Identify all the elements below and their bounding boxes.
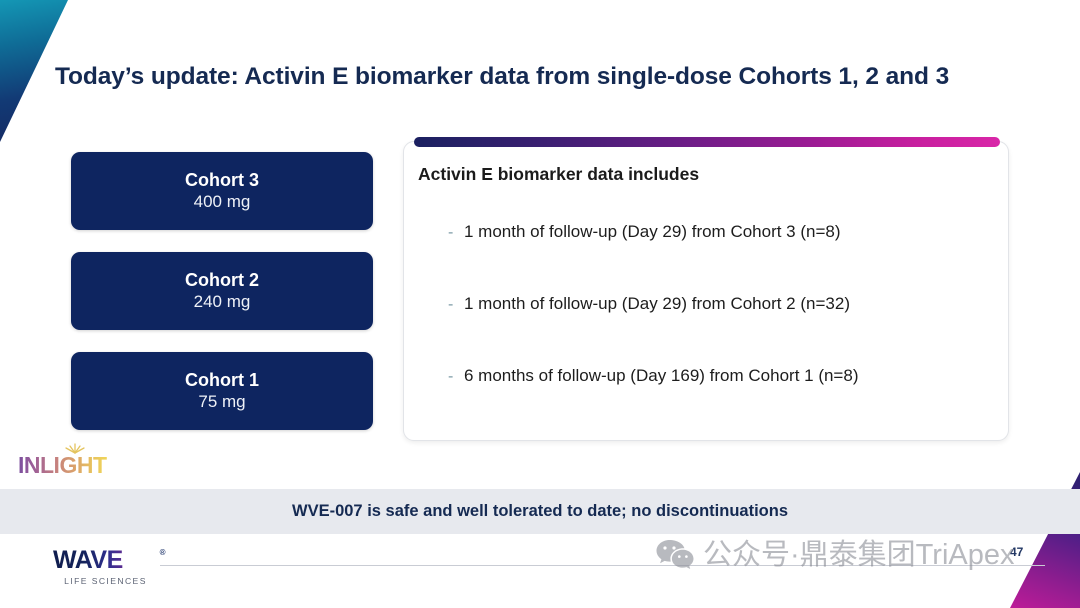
cohort-box-2: Cohort 2 240 mg <box>71 252 373 330</box>
bullet-text: 6 months of follow-up (Day 169) from Coh… <box>464 364 858 389</box>
bullet-dash-icon: - <box>448 220 464 244</box>
banner-text: WVE-007 is safe and well tolerated to da… <box>292 502 788 521</box>
registered-trademark-icon: ® <box>160 549 165 557</box>
list-item: - 1 month of follow-up (Day 29) from Coh… <box>448 220 998 292</box>
status-banner: WVE-007 is safe and well tolerated to da… <box>0 489 1080 534</box>
cohort-box-3: Cohort 3 400 mg <box>71 152 373 230</box>
inlight-logo: INLIGHT <box>18 440 128 480</box>
cohort-dose: 75 mg <box>198 391 245 413</box>
wave-tagline: LIFE SCIENCES <box>53 576 158 586</box>
wechat-icon <box>655 538 695 572</box>
biomarker-info-card: Activin E biomarker data includes - 1 mo… <box>403 141 1009 441</box>
page-title: Today’s update: Activin E biomarker data… <box>55 63 1025 91</box>
bullet-dash-icon: - <box>448 364 464 388</box>
bullet-text: 1 month of follow-up (Day 29) from Cohor… <box>464 292 850 317</box>
wave-wordmark: WAVE ® <box>53 548 158 573</box>
card-heading: Activin E biomarker data includes <box>418 164 699 185</box>
bullet-list: - 1 month of follow-up (Day 29) from Coh… <box>448 220 998 436</box>
cohort-box-1: Cohort 1 75 mg <box>71 352 373 430</box>
cohort-name: Cohort 3 <box>185 169 259 192</box>
bullet-text: 1 month of follow-up (Day 29) from Cohor… <box>464 220 841 245</box>
page-number: 47 <box>1010 545 1023 559</box>
cohort-dose: 240 mg <box>194 291 251 313</box>
wave-life-sciences-logo: WAVE ® LIFE SCIENCES <box>53 548 158 590</box>
list-item: - 1 month of follow-up (Day 29) from Coh… <box>448 292 998 364</box>
inlight-wordmark: INLIGHT <box>18 452 107 479</box>
cohort-name: Cohort 2 <box>185 269 259 292</box>
cohort-list: Cohort 3 400 mg Cohort 2 240 mg Cohort 1… <box>71 152 373 430</box>
list-item: - 6 months of follow-up (Day 169) from C… <box>448 364 998 436</box>
bullet-dash-icon: - <box>448 292 464 316</box>
slide-canvas: Today’s update: Activin E biomarker data… <box>0 0 1080 608</box>
footer-divider <box>160 565 1045 566</box>
cohort-name: Cohort 1 <box>185 369 259 392</box>
card-gradient-accent-bar <box>414 137 1000 147</box>
wechat-watermark: 公众号·鼎泰集团TriApex <box>655 538 1015 572</box>
cohort-dose: 400 mg <box>194 191 251 213</box>
wave-wordmark-text: WAVE <box>53 546 123 574</box>
